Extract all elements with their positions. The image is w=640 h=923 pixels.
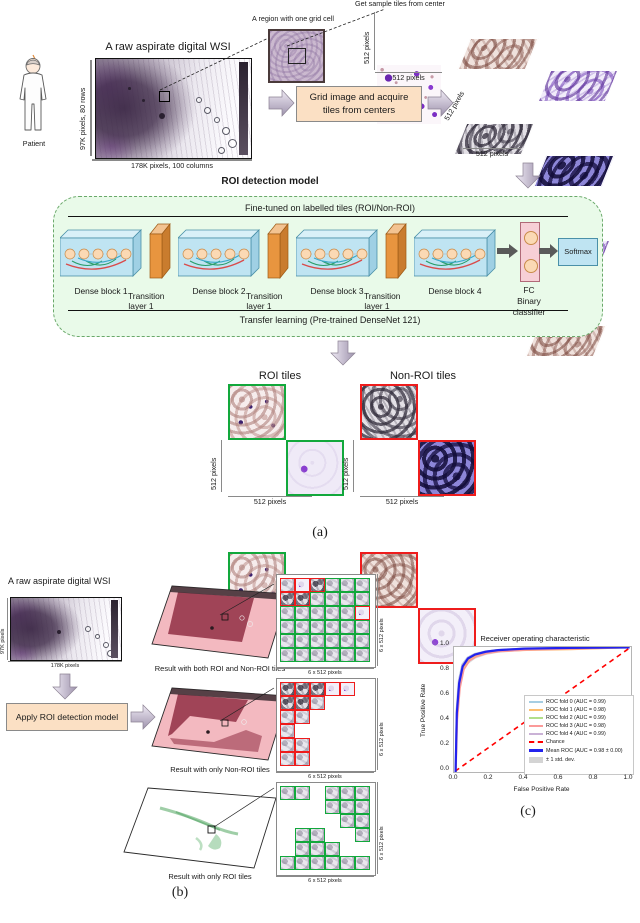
roi-tile bbox=[286, 440, 344, 496]
xtick-0.8: 0.8 bbox=[584, 774, 602, 781]
nonroi-x-axis-label: 512 pixels bbox=[360, 498, 444, 506]
zoom-3-y-ruler bbox=[377, 782, 378, 874]
panel-c: Receiver operating characteristic True P… bbox=[415, 628, 640, 828]
panel-b-wsi-y-ruler bbox=[7, 598, 8, 660]
leader-line-result-3 bbox=[212, 786, 278, 830]
leader-line-result-2 bbox=[218, 686, 278, 724]
wsi-y-axis-label: 97K pixels, 80 rows bbox=[79, 64, 87, 150]
arrow-model-to-tiles bbox=[330, 340, 356, 366]
panel-b: A raw aspirate digital WSI 97K pixels 17… bbox=[0, 560, 440, 920]
legend-swatch-fold4 bbox=[529, 733, 543, 735]
zoom-grid-2 bbox=[276, 678, 376, 772]
stack-x-axis-label: 512 pixels bbox=[463, 150, 521, 158]
model-title: ROI detection model bbox=[170, 176, 370, 187]
fc-label-line3: classifier bbox=[503, 308, 555, 318]
legend-label-stddev: ± 1 std. dev. bbox=[546, 757, 575, 763]
panel-c-label: (c) bbox=[503, 804, 553, 820]
arrow-to-process-box bbox=[268, 88, 296, 118]
wsi-x-axis-label: 178K pixels, 100 columns bbox=[92, 162, 252, 170]
chart-title: Receiver operating characteristic bbox=[435, 634, 635, 643]
panel-b-label: (b) bbox=[155, 885, 205, 901]
ytick-1.0: 1.0 bbox=[440, 640, 449, 647]
transition-layer-1-label-line2: layer 1 bbox=[128, 301, 154, 311]
zoom-1-y-label: 6 x 512 pixels bbox=[379, 586, 385, 652]
legend-item: ROC fold 3 (AUC = 0.98) bbox=[527, 722, 631, 730]
xtick-1.0: 1.0 bbox=[619, 774, 637, 781]
process-box-line2: tiles from centers bbox=[297, 103, 421, 116]
chart-legend: ROC fold 0 (AUC = 0.99) ROC fold 1 (AUC … bbox=[524, 695, 634, 775]
panel-b-wsi-x-ruler bbox=[8, 661, 122, 662]
transition-layer-3-label-line2: layer 1 bbox=[364, 301, 390, 311]
arrow-down-to-model bbox=[515, 162, 541, 190]
panel-b-wsi-x-label: 178K pixels bbox=[8, 663, 122, 669]
roi-tiles-title: ROI tiles bbox=[230, 370, 330, 382]
panel-b-wsi-image bbox=[10, 597, 122, 661]
xtick-0.0: 0.0 bbox=[444, 774, 462, 781]
chart-yticks: 1.0 0.8 0.6 0.4 0.2 0.0 bbox=[431, 640, 451, 777]
nonroi-tiles-title: Non-ROI tiles bbox=[363, 370, 483, 382]
legend-label-chance: Chance bbox=[546, 739, 565, 745]
ytick-0.6: 0.6 bbox=[440, 690, 449, 697]
leader-line-sample bbox=[285, 6, 393, 50]
arrow-down-to-apply-box bbox=[52, 673, 78, 701]
dense-block-1: Dense block 1 bbox=[60, 228, 142, 296]
chart-xticks: 0.0 0.2 0.4 0.6 0.8 1.0 bbox=[453, 774, 630, 786]
nonroi-tile bbox=[418, 440, 476, 496]
zoom-2-y-label: 6 x 512 pixels bbox=[379, 690, 385, 756]
fc-label-line1: FC bbox=[508, 286, 550, 296]
roi-tile bbox=[228, 384, 286, 440]
patient-label: Patient bbox=[6, 140, 62, 148]
softmax-box: Softmax bbox=[558, 238, 598, 266]
panel-a-label: (a) bbox=[295, 525, 345, 541]
legend-item: ROC fold 2 (AUC = 0.99) bbox=[527, 714, 631, 722]
ytick-0.0: 0.0 bbox=[440, 765, 449, 772]
legend-swatch-chance bbox=[529, 741, 543, 743]
zoom-2-x-ruler bbox=[276, 772, 374, 773]
xtick-0.6: 0.6 bbox=[549, 774, 567, 781]
legend-label-mean: Mean ROC (AUC = 0.98 ± 0.00) bbox=[546, 748, 623, 754]
sample-x-axis-label: 512 pixels bbox=[375, 74, 442, 82]
zoom-3-y-label: 6 x 512 pixels bbox=[379, 794, 385, 860]
panel-a: Patient A raw aspirate digital WSI 97K p… bbox=[0, 0, 640, 560]
transition-layer-3-label-line1: Transition bbox=[364, 291, 390, 301]
transition-layer-1: Transition layer 1 bbox=[146, 222, 172, 311]
legend-swatch-mean bbox=[529, 749, 543, 751]
model-top-caption: Fine-tuned on labelled tiles (ROI/Non-RO… bbox=[120, 203, 540, 213]
nonroi-y-ruler bbox=[353, 440, 354, 492]
ytick-0.8: 0.8 bbox=[440, 665, 449, 672]
legend-swatch-stddev bbox=[529, 757, 543, 763]
legend-item: ROC fold 0 (AUC = 0.99) bbox=[527, 698, 631, 706]
nonroi-tile bbox=[360, 384, 418, 440]
xtick-0.4: 0.4 bbox=[514, 774, 532, 781]
softmax-label: Softmax bbox=[564, 247, 592, 256]
fc-label-line2: Binary bbox=[505, 297, 553, 307]
zoom-1-x-label: 6 x 512 pixels bbox=[276, 670, 374, 676]
roi-y-ruler bbox=[221, 440, 222, 492]
legend-label-fold0: ROC fold 0 (AUC = 0.99) bbox=[546, 699, 606, 705]
legend-label-fold4: ROC fold 4 (AUC = 0.99) bbox=[546, 731, 606, 737]
sample-y-ruler bbox=[374, 12, 375, 70]
zoom-2-x-label: 6 x 512 pixels bbox=[276, 774, 374, 780]
dense-block-3: Dense block 3 bbox=[296, 228, 378, 296]
dense-block-4-label: Dense block 4 bbox=[414, 286, 496, 296]
legend-swatch-fold2 bbox=[529, 717, 543, 719]
ytick-0.4: 0.4 bbox=[440, 715, 449, 722]
ytick-0.2: 0.2 bbox=[440, 740, 449, 747]
transition-layer-2-label-line2: layer 1 bbox=[246, 301, 272, 311]
arrow-to-fc bbox=[497, 244, 519, 258]
model-top-rule bbox=[68, 216, 568, 217]
roi-x-axis-label: 512 pixels bbox=[228, 498, 312, 506]
legend-swatch-fold3 bbox=[529, 725, 543, 727]
transition-layer-3: Transition layer 1 bbox=[382, 222, 408, 311]
arrow-to-softmax bbox=[539, 244, 559, 258]
zoom-grid-1 bbox=[276, 574, 376, 668]
sample-caption: Get sample tiles from center bbox=[340, 0, 460, 8]
legend-swatch-fold0 bbox=[529, 701, 543, 703]
legend-label-fold1: ROC fold 1 (AUC = 0.98) bbox=[546, 707, 606, 713]
process-box-line1: Grid image and acquire bbox=[297, 87, 421, 103]
panel-b-wsi-y-label: 97K pixels bbox=[0, 606, 6, 654]
wsi-y-ruler bbox=[90, 60, 92, 156]
legend-item: Mean ROC (AUC = 0.98 ± 0.00) bbox=[527, 746, 631, 755]
sample-y-axis-label: 512 pixels bbox=[363, 16, 371, 64]
legend-swatch-fold1 bbox=[529, 709, 543, 711]
patient-icon bbox=[10, 52, 56, 138]
apply-roi-box: Apply ROI detection model bbox=[6, 703, 128, 731]
legend-item: ROC fold 4 (AUC = 0.99) bbox=[527, 730, 631, 738]
model-blocks: Dense block 1 Transition layer 1 bbox=[60, 222, 540, 312]
dense-block-2: Dense block 2 bbox=[178, 228, 260, 296]
fc-binary-classifier bbox=[520, 222, 540, 282]
legend-label-fold3: ROC fold 3 (AUC = 0.98) bbox=[546, 723, 606, 729]
region-cell-marker bbox=[288, 48, 306, 64]
chart-plot-area: ROC fold 0 (AUC = 0.99) ROC fold 1 (AUC … bbox=[453, 646, 632, 773]
legend-item: Chance bbox=[527, 738, 631, 746]
roi-y-axis-label: 512 pixels bbox=[210, 444, 218, 490]
transition-layer-2-label-line1: Transition bbox=[246, 291, 272, 301]
xtick-0.2: 0.2 bbox=[479, 774, 497, 781]
zoom-2-y-ruler bbox=[377, 678, 378, 770]
dense-block-4: Dense block 4 bbox=[414, 228, 496, 296]
transition-layer-2: Transition layer 1 bbox=[264, 222, 290, 311]
chart-ylabel: True Positive Rate bbox=[420, 660, 427, 760]
legend-item: ROC fold 1 (AUC = 0.98) bbox=[527, 706, 631, 714]
panel-b-wsi-title: A raw aspirate digital WSI bbox=[8, 576, 111, 586]
nonroi-y-axis-label: 512 pixels bbox=[342, 444, 350, 490]
tile-stack bbox=[452, 38, 637, 148]
zoom-3-x-ruler bbox=[276, 876, 374, 877]
transition-layer-1-label-line1: Transition bbox=[128, 291, 154, 301]
zoom-grid-3 bbox=[276, 782, 376, 876]
zoom-1-y-ruler bbox=[377, 574, 378, 666]
legend-item: ± 1 std. dev. bbox=[527, 755, 631, 764]
result-3-caption: Result with only ROI tiles bbox=[130, 872, 290, 881]
leader-line-result-1 bbox=[218, 582, 278, 618]
zoom-1-x-ruler bbox=[276, 668, 374, 669]
zoom-3-x-label: 6 x 512 pixels bbox=[276, 878, 374, 884]
chart-xlabel: False Positive Rate bbox=[453, 786, 630, 793]
process-box: Grid image and acquire tiles from center… bbox=[296, 86, 422, 122]
model-bottom-caption: Transfer learning (Pre-trained DenseNet … bbox=[120, 315, 540, 325]
apply-roi-box-label: Apply ROI detection model bbox=[16, 712, 118, 722]
legend-label-fold2: ROC fold 2 (AUC = 0.99) bbox=[546, 715, 606, 721]
